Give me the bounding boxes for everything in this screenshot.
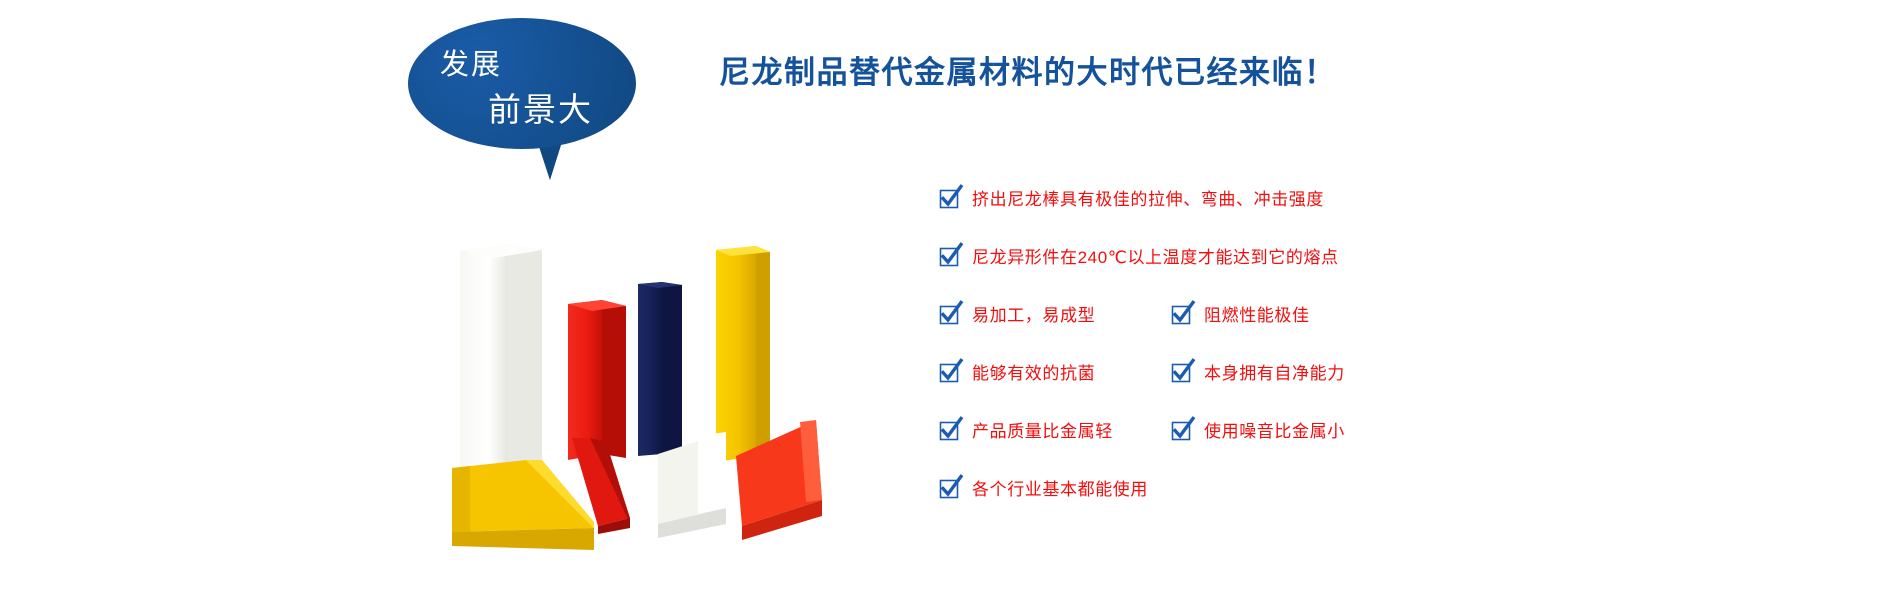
feature-text: 本身拥有自净能力	[1204, 365, 1345, 382]
speech-bubble-line-2: 前景大	[488, 93, 593, 126]
feature-row: 尼龙异形件在240℃以上温度才能达到它的熔点	[940, 248, 1480, 306]
feature-text: 使用噪音比金属小	[1204, 423, 1345, 440]
checkbox-check-icon	[940, 480, 959, 499]
feature-text: 易加工，易成型	[972, 307, 1095, 324]
feature-row: 产品质量比金属轻使用噪音比金属小	[940, 422, 1480, 480]
feature-row: 各个行业基本都能使用	[940, 480, 1480, 538]
checkbox-check-icon	[940, 248, 959, 267]
feature-text: 尼龙异形件在240℃以上温度才能达到它的熔点	[972, 249, 1339, 266]
checkbox-check-icon	[940, 422, 959, 441]
checkbox-check-icon	[1172, 364, 1191, 383]
feature-item: 各个行业基本都能使用	[940, 480, 1148, 499]
feature-item: 使用噪音比金属小	[1172, 422, 1345, 441]
profile-red-upright	[568, 300, 626, 460]
checkbox-check-icon	[940, 306, 959, 325]
feature-row: 挤出尼龙棒具有极佳的拉伸、弯曲、冲击强度	[940, 190, 1480, 248]
feature-item: 产品质量比金属轻	[940, 422, 1113, 441]
profile-navy-upright	[638, 282, 682, 458]
profile-yellow-tray	[452, 460, 594, 550]
profile-white-upright	[460, 244, 542, 470]
speech-bubble-line-1: 发展	[440, 51, 502, 80]
feature-row: 易加工，易成型阻燃性能极佳	[940, 306, 1480, 364]
checkbox-check-icon	[940, 364, 959, 383]
feature-item: 易加工，易成型	[940, 306, 1095, 325]
feature-text: 能够有效的抗菌	[972, 365, 1095, 382]
page-title: 尼龙制品替代金属材料的大时代已经来临！	[719, 54, 1337, 91]
speech-bubble: 发展 前景大	[408, 18, 658, 193]
feature-text: 各个行业基本都能使用	[972, 481, 1148, 498]
feature-item: 挤出尼龙棒具有极佳的拉伸、弯曲、冲击强度	[940, 190, 1324, 209]
feature-list: 挤出尼龙棒具有极佳的拉伸、弯曲、冲击强度尼龙异形件在240℃以上温度才能达到它的…	[940, 190, 1480, 538]
feature-text: 挤出尼龙棒具有极佳的拉伸、弯曲、冲击强度	[972, 191, 1324, 208]
product-photo	[430, 232, 850, 560]
profile-yellow-upright	[716, 246, 770, 462]
feature-text: 产品质量比金属轻	[972, 423, 1113, 440]
feature-item: 阻燃性能极佳	[1172, 306, 1310, 325]
feature-item: 能够有效的抗菌	[940, 364, 1095, 383]
feature-item: 本身拥有自净能力	[1172, 364, 1345, 383]
speech-bubble-body	[408, 18, 636, 149]
promo-banner: 发展 前景大 尼龙制品替代金属材料的大时代已经来临！	[0, 0, 1902, 592]
feature-item: 尼龙异形件在240℃以上温度才能达到它的熔点	[940, 248, 1339, 267]
checkbox-check-icon	[1172, 422, 1191, 441]
feature-text: 阻燃性能极佳	[1204, 307, 1310, 324]
checkbox-check-icon	[1172, 306, 1191, 325]
feature-row: 能够有效的抗菌本身拥有自净能力	[940, 364, 1480, 422]
checkbox-check-icon	[940, 190, 959, 209]
